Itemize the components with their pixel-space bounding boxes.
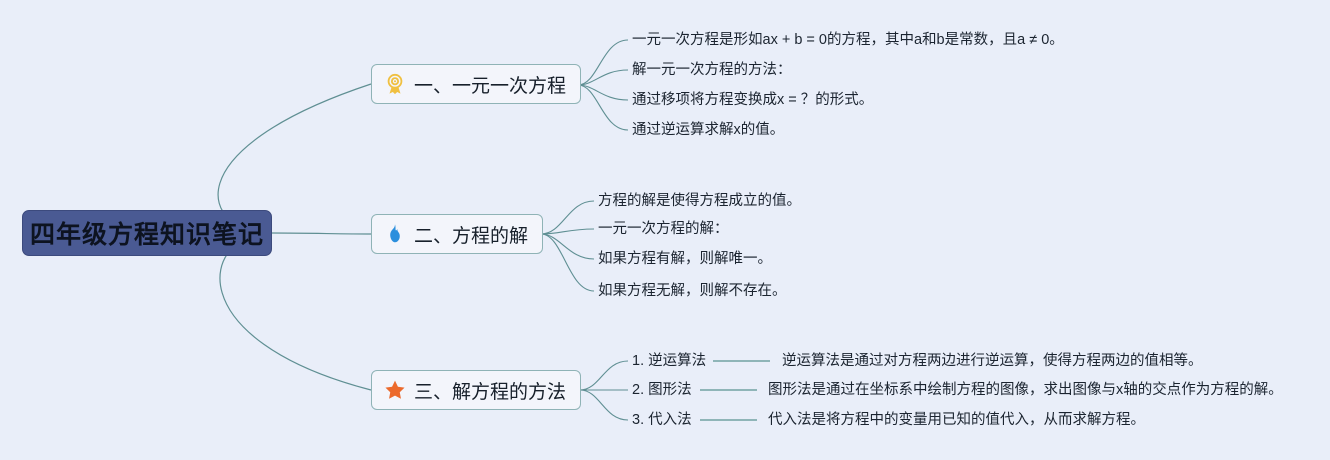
wire-root-to-topic-2 [272,233,371,234]
topic-node-2[interactable]: 二、方程的解 [371,214,543,254]
topic-label-2: 二、方程的解 [414,221,528,248]
wire-topic-1-leaf-1 [578,40,628,85]
wire-topic-2-leaf-1 [541,201,594,234]
subtopic-label-2: 2. 图形法 [632,383,692,398]
wire-topic-1-leaf-4 [578,85,628,130]
wire-root-to-topic-3 [220,233,371,390]
wire-topic-3-sub-3 [580,390,628,420]
wire-topic-2-leaf-4 [541,234,594,291]
wire-topic-2-leaf-3 [541,234,594,259]
leaf-topic-1-2: 解一元一次方程的方法： [632,63,792,78]
topic-node-3[interactable]: 三、解方程的方法 [371,370,581,410]
subtopic-detail-1: 逆运算法是通过对方程两边进行逆运算，使得方程两边的值相等。 [782,354,1203,369]
topic-label-3: 三、解方程的方法 [414,377,566,404]
leaf-topic-1-1: 一元一次方程是形如ax + b = 0的方程，其中a和b是常数，且a ≠ 0。 [632,33,1064,48]
root-node[interactable]: 四年级方程知识笔记 [22,210,272,256]
wire-topic-2-leaf-2 [541,229,594,234]
wire-topic-1-leaf-2 [578,70,628,85]
flame-icon [384,223,406,245]
mindmap-canvas: 四年级方程知识笔记 一、一元一次方程 二、方程的解 [0,0,1330,460]
subtopic-label-3: 3. 代入法 [632,413,692,428]
leaf-topic-1-4: 通过逆运算求解x的值。 [632,123,784,138]
topic-label-1: 一、一元一次方程 [414,71,566,98]
topic-node-1[interactable]: 一、一元一次方程 [371,64,581,104]
subtopic-detail-2: 图形法是通过在坐标系中绘制方程的图像，求出图像与x轴的交点作为方程的解。 [768,383,1283,398]
subtopic-detail-3: 代入法是将方程中的变量用已知的值代入，从而求解方程。 [768,413,1145,428]
leaf-topic-2-2: 一元一次方程的解： [598,222,729,237]
wire-topic-3-sub-1 [580,361,628,390]
wire-topic-1-leaf-3 [578,85,628,100]
subtopic-label-1: 1. 逆运算法 [632,354,706,369]
leaf-topic-2-3: 如果方程有解，则解唯一。 [598,252,772,267]
medal-rosette-icon [384,73,406,95]
root-label: 四年级方程知识笔记 [30,215,264,251]
star-icon [384,379,406,401]
leaf-topic-2-4: 如果方程无解，则解不存在。 [598,284,787,299]
leaf-topic-2-1: 方程的解是使得方程成立的值。 [598,194,801,209]
leaf-topic-1-3: 通过移项将方程变换成x = ？的形式。 [632,93,873,108]
